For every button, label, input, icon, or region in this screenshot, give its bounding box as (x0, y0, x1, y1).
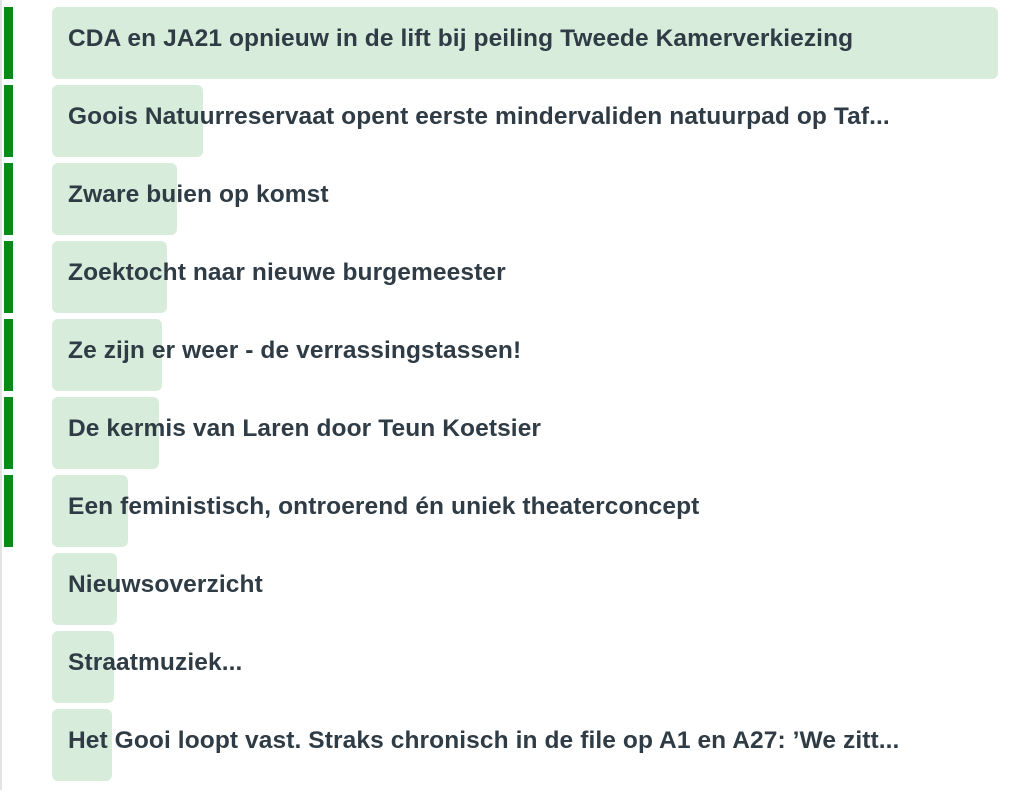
unread-marker-bar (4, 85, 13, 157)
unread-marker-bar (4, 163, 13, 235)
headline-link[interactable]: Straatmuziek... (68, 624, 242, 702)
headline-link[interactable]: CDA en JA21 opnieuw in de lift bij peili… (68, 0, 853, 78)
headline-link[interactable]: Nieuwsoverzicht (68, 546, 263, 624)
news-list-item[interactable]: Ze zijn er weer - de verrassingstassen! (0, 312, 1024, 390)
news-list-item[interactable]: De kermis van Laren door Teun Koetsier (0, 390, 1024, 468)
headline-link[interactable]: Zoektocht naar nieuwe burgemeester (68, 234, 506, 312)
headline-link[interactable]: Ze zijn er weer - de verrassingstassen! (68, 312, 521, 390)
headline-link[interactable]: De kermis van Laren door Teun Koetsier (68, 390, 541, 468)
headline-link[interactable]: Een feministisch, ontroerend én uniek th… (68, 468, 699, 546)
headline-link[interactable]: Het Gooi loopt vast. Straks chronisch in… (68, 702, 899, 780)
headline-link[interactable]: Goois Natuurreservaat opent eerste minde… (68, 78, 890, 156)
news-list-item[interactable]: Nieuwsoverzicht (0, 546, 1024, 624)
news-list-page: CDA en JA21 opnieuw in de lift bij peili… (0, 0, 1024, 796)
news-list-item[interactable]: Goois Natuurreservaat opent eerste minde… (0, 78, 1024, 156)
news-list-item[interactable]: Het Gooi loopt vast. Straks chronisch in… (0, 702, 1024, 780)
headline-link[interactable]: Zware buien op komst (68, 156, 329, 234)
news-list-item[interactable]: Zoektocht naar nieuwe burgemeester (0, 234, 1024, 312)
news-list-item[interactable]: Een feministisch, ontroerend én uniek th… (0, 468, 1024, 546)
unread-marker-bar (4, 397, 13, 469)
news-list-item[interactable]: Straatmuziek... (0, 624, 1024, 702)
unread-marker-bar (4, 241, 13, 313)
unread-marker-bar (4, 475, 13, 547)
unread-marker-bar (4, 319, 13, 391)
unread-marker-bar (4, 7, 13, 79)
news-list-item[interactable]: CDA en JA21 opnieuw in de lift bij peili… (0, 0, 1024, 78)
news-list-item[interactable]: Zware buien op komst (0, 156, 1024, 234)
news-list: CDA en JA21 opnieuw in de lift bij peili… (0, 0, 1024, 796)
